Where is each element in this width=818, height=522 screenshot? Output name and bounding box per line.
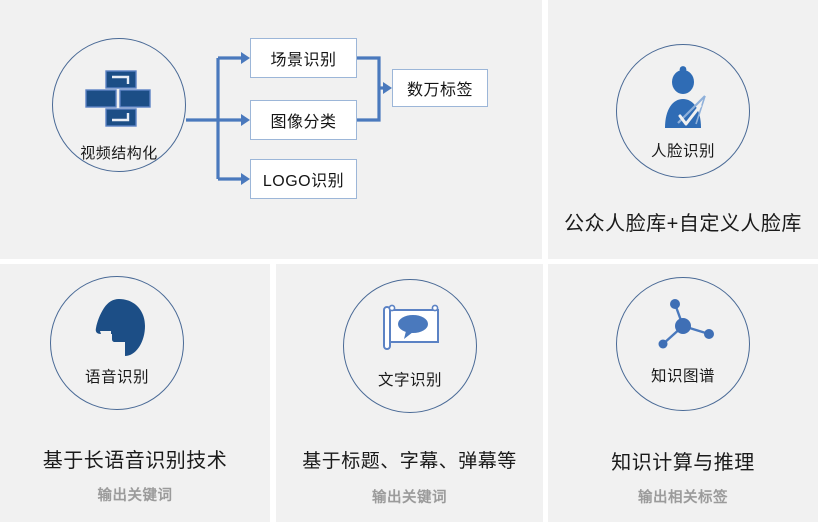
caption-face-recognition: 公众人脸库+自定义人脸库 [548, 207, 818, 236]
subcaption-knowledge-graph: 输出相关标签 [548, 486, 818, 507]
banner-speech-bubble-icon [380, 302, 442, 354]
circle-label-knowledge-graph: 知识图谱 [616, 364, 750, 386]
circle-label-video-structuring: 视频结构化 [52, 142, 186, 163]
flow-node-image-classification[interactable]: 图像分类 [250, 100, 357, 140]
panel-face-recognition: 人脸识别 公众人脸库+自定义人脸库 [548, 0, 818, 259]
head-profile-icon [89, 298, 147, 358]
circle-label-face-recognition: 人脸识别 [616, 139, 750, 161]
panel-video-structuring: 视频结构化 场景识别 图像分类 LOGO识别 数万标签 [0, 0, 542, 259]
flow-node-tens-of-thousands-tags[interactable]: 数万标签 [392, 69, 488, 107]
flow-node-scene-recognition[interactable]: 场景识别 [250, 38, 357, 78]
panel-knowledge-graph: 知识图谱 知识计算与推理 输出相关标签 [548, 264, 818, 522]
knowledge-graph-nodes-icon [653, 296, 715, 354]
caption-text-recognition: 基于标题、字幕、弹幕等 [276, 446, 543, 473]
subcaption-text-recognition: 输出关键词 [276, 486, 543, 507]
panel-text-recognition: 文字识别 基于标题、字幕、弹幕等 输出关键词 [276, 264, 543, 522]
circle-label-speech-recognition: 语音识别 [50, 365, 184, 387]
face-scan-person-icon [656, 66, 712, 128]
video-structuring-icon [84, 68, 154, 128]
subcaption-speech-recognition: 输出关键词 [0, 484, 270, 505]
circle-label-text-recognition: 文字识别 [343, 368, 477, 390]
infographic-canvas: 视频结构化 场景识别 图像分类 LOGO识别 数万标签 人脸识别 公众人脸库+自… [0, 0, 818, 522]
panel-speech-recognition: 语音识别 基于长语音识别技术 输出关键词 [0, 264, 270, 522]
caption-speech-recognition: 基于长语音识别技术 [0, 444, 270, 473]
caption-knowledge-graph: 知识计算与推理 [548, 446, 818, 475]
flow-node-logo-recognition[interactable]: LOGO识别 [250, 159, 357, 199]
